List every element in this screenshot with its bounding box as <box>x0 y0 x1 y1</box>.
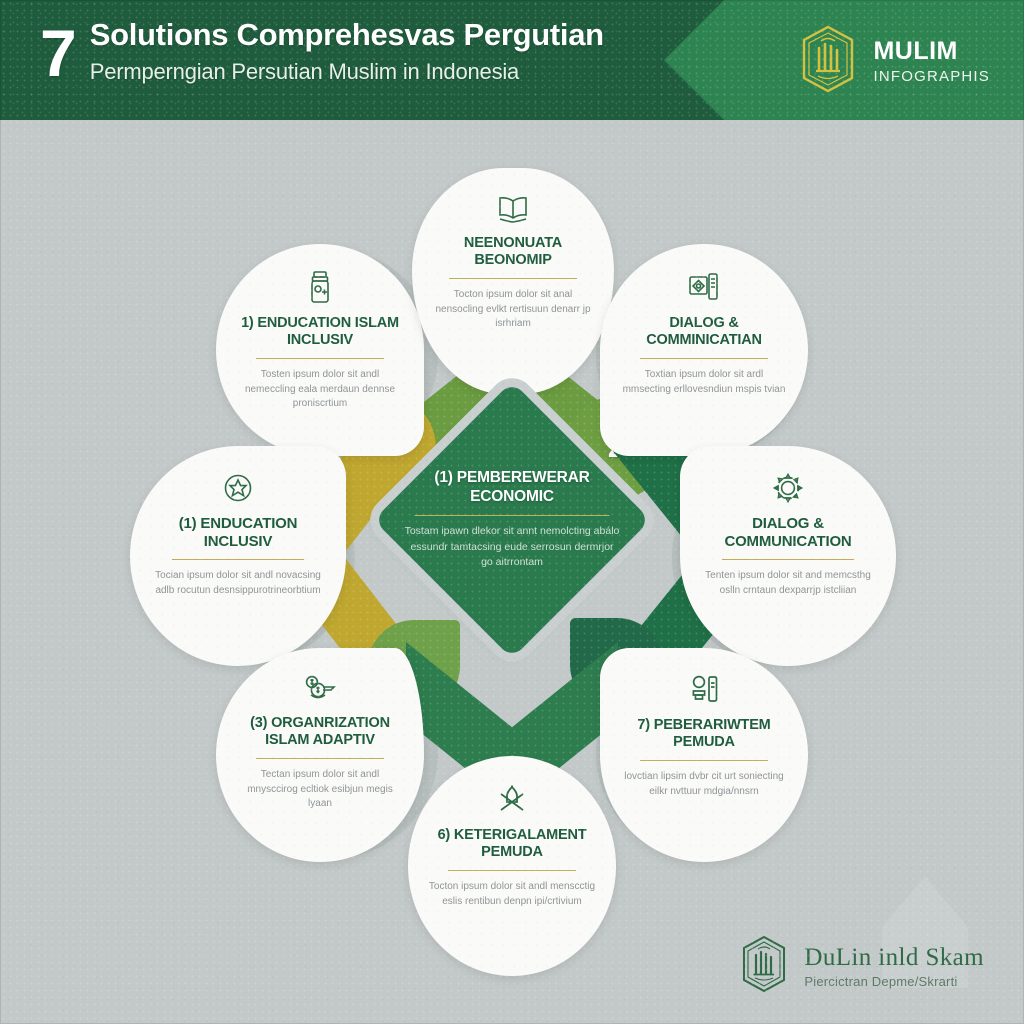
footer-title: DuLin inld Skam <box>804 945 984 970</box>
person-book-icon <box>687 674 721 711</box>
card-divider <box>172 559 304 560</box>
card-title: (3) ORGANRIZATION ISLAM ADAPTIV <box>236 715 404 749</box>
header-title-group: 7 Solutions Comprehesvas Pergutian Permp… <box>40 18 604 86</box>
center-node[interactable]: (1) PEMBEREWERAR ECONOMIC Tostam ipawn d… <box>352 350 672 690</box>
brand-logo-group: MULIM INFOGRAPHIS <box>797 24 990 99</box>
center-title: (1) PEMBEREWERAR ECONOMIC <box>405 469 620 507</box>
star-badge-icon <box>222 472 254 509</box>
brand-tagline: INFOGRAPHIS <box>873 69 990 84</box>
card-divider <box>722 559 854 560</box>
mosque-crossed-icon <box>494 784 530 821</box>
card-description: Tocton ipsum dolor sit andl menscctig es… <box>428 880 596 909</box>
center-description: Tostam ipawn dlekor sit annt nemolcting … <box>405 524 620 571</box>
footer-subtitle: Piercictran Depme/Skrarti <box>804 975 984 988</box>
infographic-stage: 3 1 2 3 7 6 4 6 (1) PEMBEREWERAR ECONOMI… <box>0 120 1024 1024</box>
page-subtitle: Permperngian Persutian Muslim in Indones… <box>90 59 604 85</box>
card-description: Tenten ipsum dolor sit and memcsthg osll… <box>702 569 874 598</box>
card-title: NEENONUATA BEONOMIP <box>432 235 594 269</box>
islamic-badge-icon <box>738 935 790 998</box>
card-description: Tocton ipsum dolor sit anal nensocling e… <box>432 288 594 332</box>
card-description: Tocian ipsum dolor sit andl novacsing ad… <box>152 569 324 598</box>
gear-icon <box>772 472 804 509</box>
card-divider <box>640 760 768 761</box>
card-title: DIALOG & COMMINICATIAN <box>620 315 788 349</box>
card-mid-left[interactable]: (1) ENDUCATION INCLUSIV Tocian ipsum dol… <box>130 446 346 666</box>
center-divider <box>415 515 610 516</box>
card-title: 6) KETERIGALAMENT PEMUDA <box>428 827 596 861</box>
page-title: Solutions Comprehesvas Pergutian <box>90 18 604 52</box>
card-title: 7) PEBERARIWTEM PEMUDA <box>620 717 788 751</box>
card-mid-right[interactable]: DIALOG & COMMUNICATION Tenten ipsum dolo… <box>680 446 896 666</box>
brand-name: MULIM <box>873 39 990 64</box>
card-divider <box>448 870 576 871</box>
jar-icon <box>305 270 335 309</box>
card-title: 1) ENDUCATION ISLAM INCLUSIV <box>236 315 404 349</box>
magnifier-money-icon <box>302 674 338 709</box>
card-divider <box>256 758 384 759</box>
islamic-calligraphy-badge-icon <box>797 24 859 99</box>
page-header: 7 Solutions Comprehesvas Pergutian Permp… <box>0 0 1024 120</box>
documents-icon <box>687 272 721 309</box>
open-book-icon <box>496 194 530 229</box>
card-title: DIALOG & COMMUNICATION <box>702 515 874 550</box>
card-bottom-center[interactable]: 6) KETERIGALAMENT PEMUDA Tocton ipsum do… <box>408 756 616 976</box>
header-number: 7 <box>40 20 76 86</box>
card-description: lovctian lipsim dvbr cit urt soniecting … <box>620 770 788 799</box>
card-divider <box>449 278 577 279</box>
card-description: Tectan ipsum dolor sit andl mnysccirog e… <box>236 768 404 812</box>
card-title: (1) ENDUCATION INCLUSIV <box>152 515 324 550</box>
footer-logo-group: DuLin inld Skam Piercictran Depme/Skrart… <box>738 935 984 998</box>
